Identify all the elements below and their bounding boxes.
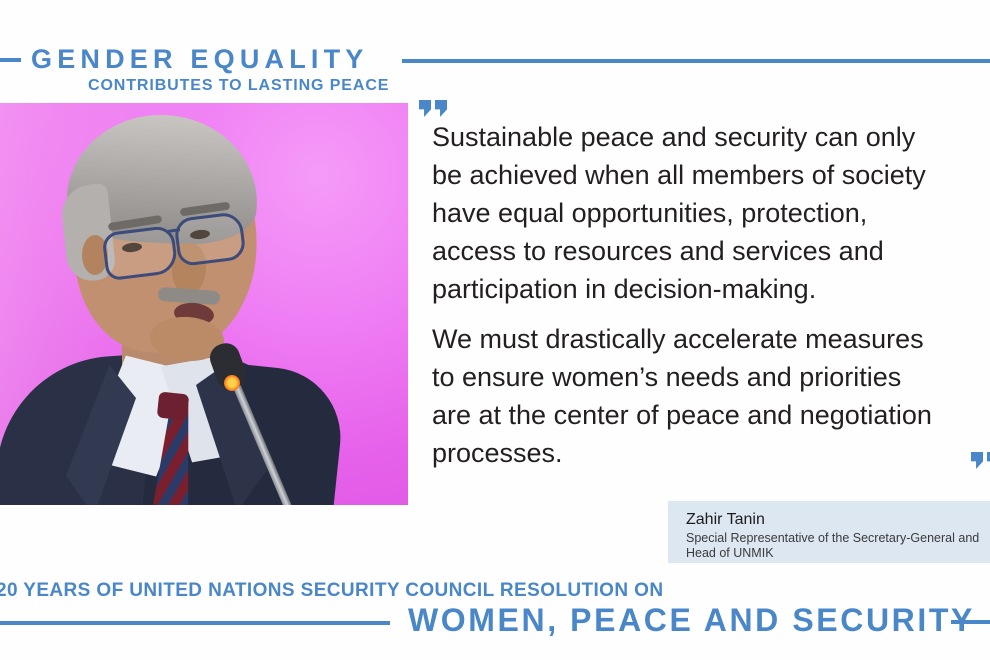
quote-open-icon [419, 100, 449, 118]
page-subtitle: CONTRIBUTES TO LASTING PEACE [88, 76, 389, 96]
figure-necktie-knot [157, 392, 190, 421]
footer-right-dash-rule [951, 620, 990, 624]
attribution-name: Zahir Tanin [686, 510, 990, 530]
page-title: GENDER EQUALITY [31, 44, 369, 74]
quote-close-icon [971, 452, 990, 470]
speaker-photo [0, 103, 408, 505]
microphone-indicator-light [224, 375, 240, 391]
attribution-card: Zahir Tanin Special Representative of th… [668, 501, 990, 563]
footer-primary-line: 20 YEARS OF UNITED NATIONS SECURITY COUN… [0, 580, 663, 602]
footer-campaign-title: WOMEN, PEACE AND SECURITY [408, 601, 975, 639]
footer-left-rule [0, 621, 390, 625]
attribution-role: Special Representative of the Secretary-… [686, 531, 990, 561]
header: GENDER EQUALITY CONTRIBUTES TO LASTING P… [0, 22, 990, 82]
quote-paragraph-2: We must drastically accelerate measures … [432, 320, 990, 472]
header-left-dash-rule [0, 58, 21, 62]
quote-body: Sustainable peace and security can only … [432, 118, 990, 484]
figure-eyeglass-lens-right [173, 211, 246, 267]
quote-paragraph-1: Sustainable peace and security can only … [432, 118, 990, 308]
poster-canvas: GENDER EQUALITY CONTRIBUTES TO LASTING P… [0, 0, 990, 660]
header-right-rule [402, 59, 990, 63]
